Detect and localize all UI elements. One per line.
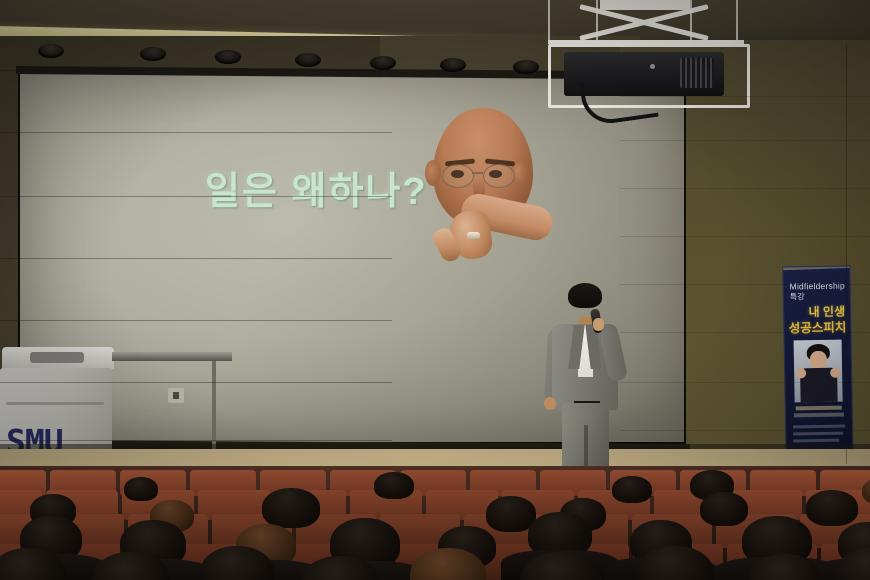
banner-detail-line-3 [793,439,839,442]
rig-hanger-wire-4 [736,0,738,44]
stage-grain-2 [0,459,870,460]
audience-head-2 [374,472,414,499]
side-table-leg [212,361,216,451]
portrait-glasses-right [483,164,515,188]
banner-photo-hand-left [796,368,806,378]
ceiling-can-light-6 [440,58,466,72]
scissor-lift-mount [578,2,708,44]
speaker-hand-left [544,397,556,410]
audience-head-12 [806,490,858,526]
portrait-glasses-bridge [472,172,483,174]
banner-detail-line-2 [793,432,843,435]
banner-subtitle: 특강 [790,291,805,302]
wall-panel-seam-left-7 [0,440,392,441]
wall-panel-seam-right-1 [620,96,870,97]
wall-panel-seam-right-3 [620,188,870,189]
lecture-hall-photo: 일은 왜하나? [0,0,870,580]
banner-top-rail [782,265,853,270]
wall-panel-seam-left-3 [0,196,392,197]
wall-panel-seam-left-6 [0,382,392,383]
wall-panel-seam-right-6 [620,332,870,333]
roll-up-banner: Midfieldership 특강 내 인생 성공스피치 [782,265,853,464]
portrait-glasses-left [442,164,474,188]
banner-detail-line-1 [793,425,845,428]
audience-head-6 [612,476,652,503]
banner-english-title: Midfieldership [790,281,845,292]
banner-detail-line-a [796,406,842,411]
wall-panel-seam-left-2 [0,132,392,133]
stage-grain-1 [0,452,870,453]
speaker-hand-right [593,318,604,331]
ceiling-can-light-2 [140,47,166,61]
ceiling-can-light-1 [38,44,64,58]
wall-panel-seam-left-5 [0,320,392,321]
audience-head-11 [700,492,748,526]
wall-panel-seam-right-4 [620,236,870,237]
mount-plate [600,0,690,10]
rig-hanger-wire-2 [596,0,598,40]
wall-panel-seam-right-2 [620,140,870,141]
wall-panel-seam-right-7 [620,382,870,383]
wall-panel-seam-vertical [846,44,847,464]
wall-panel-seam-right-5 [620,284,870,285]
banner-highlight-line2: 성공스피치 [789,317,847,337]
banner-photo-hand-right [830,368,840,378]
speaker-person [530,283,640,488]
wall-panel-seam-right-8 [620,430,870,431]
banner-detail-line-b [794,413,844,418]
podium-handle [30,352,84,363]
ceiling-projector [564,52,724,96]
wall-panel-seam-left-1 [0,70,392,71]
audience-head-9 [262,488,320,528]
wall-panel-seam-left-4 [0,258,392,259]
side-table [112,352,232,361]
rig-hanger-wire-1 [548,0,550,44]
ceiling-can-light-7 [513,60,539,74]
stage-grain-3 [0,466,870,467]
portrait-ear-left [425,160,441,186]
podium-groove [6,402,104,405]
slide-headline: 일은 왜하나? [205,160,428,215]
projector-vent [680,58,714,88]
wall-outlet [168,388,184,403]
steve-jobs-portrait [415,108,550,263]
audience-head-1 [124,477,158,501]
ceiling-can-light-5 [370,56,396,70]
ceiling-can-light-4 [295,53,321,67]
portrait-ring [467,232,480,239]
rig-hanger-wire-3 [690,0,692,40]
banner-speaker-photo [794,340,843,403]
ceiling-can-light-3 [215,50,241,64]
projector-indicator [650,64,655,69]
